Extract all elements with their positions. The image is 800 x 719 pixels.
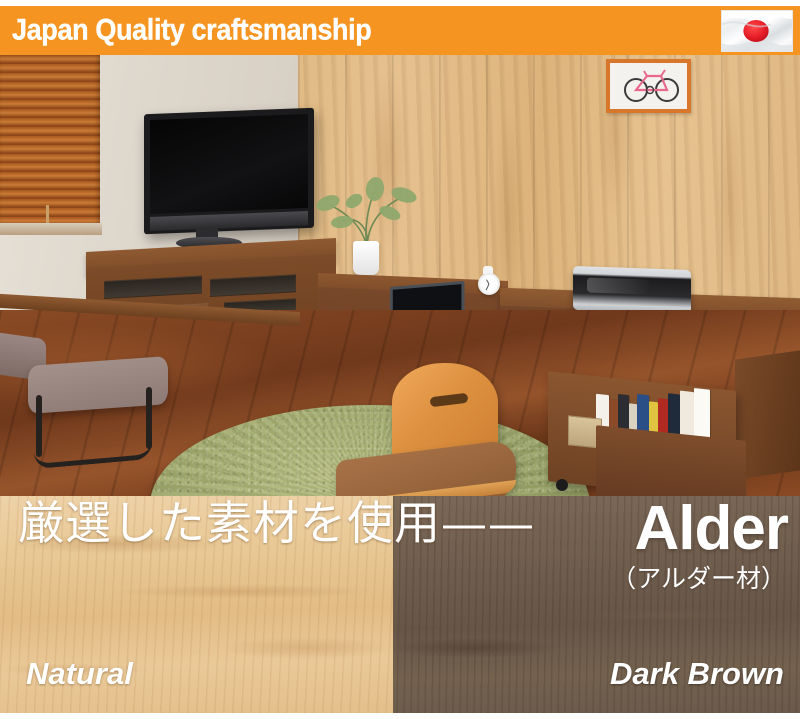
clock-face: [483, 278, 495, 290]
ottoman-leg-right: [146, 387, 152, 449]
tv-screen: [150, 114, 308, 214]
page-title: Japan Quality craftsmanship: [12, 13, 411, 47]
japan-flag-svg: [722, 11, 792, 51]
inkjet-printer: [573, 266, 691, 314]
product-banner-page: Japan Quality craftsmanship: [0, 0, 800, 719]
material-headline-jp: 厳選した素材を使用——: [18, 500, 535, 546]
page-title-text: Japan Quality craftsmanship: [12, 13, 371, 47]
natural-swatch-label: Natural: [26, 656, 133, 692]
material-name: Alder: [635, 498, 788, 560]
bicycle-icon: [614, 66, 687, 106]
dark-brown-swatch-label: Dark Brown: [610, 656, 784, 692]
wooden-blinds-icon: [0, 55, 100, 227]
television: [144, 108, 314, 235]
room-photo: [0, 55, 800, 496]
frame-artwork: [610, 63, 687, 109]
header-banner: Japan Quality craftsmanship: [0, 6, 800, 55]
plant-pot: [353, 241, 379, 275]
tv-board-glass-door-2: [210, 274, 296, 297]
material-swatch-section: 厳選した素材を使用—— Alder （アルダー材） Natural Dark B…: [0, 496, 800, 713]
tv-board-glass-door-1: [104, 276, 202, 299]
tv-bottom-bezel: [150, 211, 308, 231]
japan-flag-icon: [721, 10, 793, 52]
printer-highlight: [587, 278, 648, 294]
book-cart-wheel-left: [556, 479, 568, 491]
bottom-white-margin: [0, 713, 800, 719]
alarm-clock: [478, 273, 500, 295]
ottoman-leg-left: [36, 395, 42, 457]
clock-minute-hand: [486, 284, 490, 291]
window-sill: [0, 223, 102, 235]
framed-bicycle-picture: [606, 59, 691, 113]
material-name-jp: （アルダー材）: [611, 566, 786, 591]
